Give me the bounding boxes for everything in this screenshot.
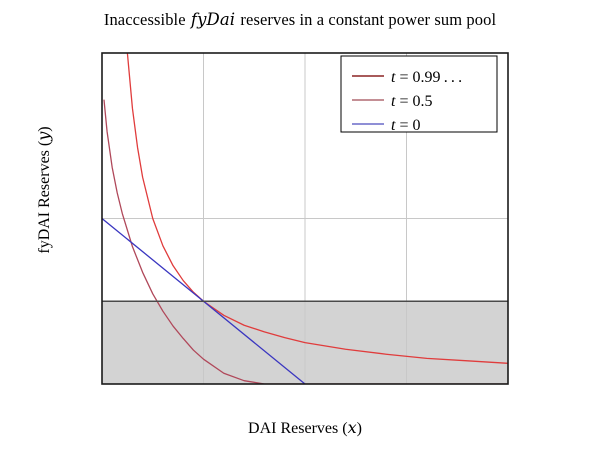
- chart-figure: Inaccessible fyDai reserves in a constan…: [0, 0, 600, 459]
- legend-label-0: t=0.99 . . .: [391, 69, 462, 86]
- legend-label-2: t=0: [391, 117, 420, 134]
- plot-area: t=0.99 . . .t=0.5t=0: [0, 0, 600, 459]
- chart-legend: t=0.99 . . .t=0.5t=0: [341, 56, 497, 134]
